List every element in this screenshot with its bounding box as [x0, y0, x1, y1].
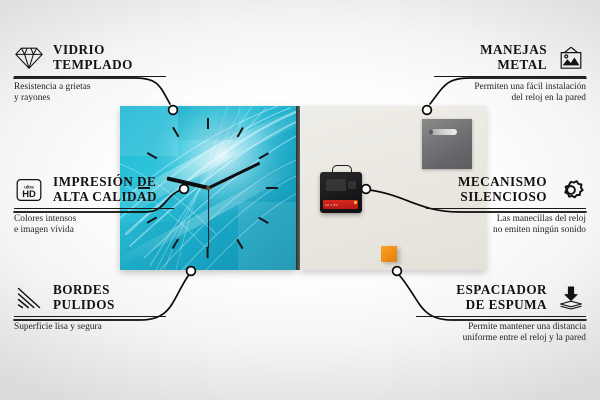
wire-endpoint-ring	[187, 267, 196, 276]
feature-divider	[14, 316, 166, 317]
feature-title-line2: PULIDOS	[53, 298, 115, 313]
feature-desc-line2: no emiten ningún sonido	[426, 225, 586, 236]
feature-description: Resistencia a grietas y rayones	[14, 82, 166, 105]
feature-vidrio-templado: VIDRIO TEMPLADO Resistencia a grietas y …	[14, 43, 166, 104]
feature-bordes-pulidos: BORDES PULIDOS Superficie lisa y segura	[14, 283, 166, 333]
feature-manejas-metal: MANEJAS METAL Permiten una fácil instala…	[434, 43, 586, 104]
feature-description: Colores intensos e imagen vívida	[14, 214, 174, 237]
feature-desc-line2: e imagen vívida	[14, 225, 174, 236]
feature-espaciador-de-espuma: ESPACIADOR DE ESPUMA Permite mantener un…	[416, 283, 586, 344]
feature-header: ESPACIADOR DE ESPUMA	[416, 283, 586, 312]
diamond-icon	[14, 45, 44, 71]
feature-title: MECANISMO SILENCIOSO	[458, 175, 547, 204]
feature-title-line1: MANEJAS	[480, 43, 547, 58]
feature-desc-line1: Las manecillas del reloj	[426, 214, 586, 225]
feature-desc-line1: Colores intensos	[14, 214, 174, 225]
feature-title-line2: SILENCIOSO	[458, 190, 547, 205]
feature-divider	[14, 76, 166, 77]
svg-text:HD: HD	[22, 188, 36, 199]
arrow-down-onto-layers-icon	[556, 285, 586, 311]
feature-title: IMPRESIÓN DE ALTA CALIDAD	[53, 175, 157, 204]
feature-header: VIDRIO TEMPLADO	[14, 43, 166, 72]
feature-title-line1: IMPRESIÓN DE	[53, 175, 157, 190]
diagonal-lines-icon	[14, 285, 44, 311]
feature-desc-line2: y rayones	[14, 93, 166, 104]
feature-desc-line1: Resistencia a grietas	[14, 82, 166, 93]
feature-description: Las manecillas del reloj no emiten ningú…	[426, 214, 586, 237]
wire-endpoint-ring	[180, 185, 189, 194]
feature-divider	[426, 208, 586, 209]
feature-title-line2: TEMPLADO	[53, 58, 133, 73]
feature-title-line1: BORDES	[53, 283, 115, 298]
feature-title: ESPACIADOR DE ESPUMA	[456, 283, 547, 312]
feature-title-line1: VIDRIO	[53, 43, 133, 58]
feature-divider	[434, 76, 586, 77]
feature-desc-line2: del reloj en la pared	[434, 93, 586, 104]
feature-title-line2: ALTA CALIDAD	[53, 190, 157, 205]
feature-description: Superficie lisa y segura	[14, 322, 166, 333]
feature-title-line2: DE ESPUMA	[456, 298, 547, 313]
feature-title-line2: METAL	[480, 58, 547, 73]
feature-header: MECANISMO SILENCIOSO	[426, 175, 586, 204]
feature-title: MANEJAS METAL	[480, 43, 547, 72]
feature-title: BORDES PULIDOS	[53, 283, 115, 312]
ultra-hd-badge-icon: ultra HD	[14, 177, 44, 203]
feature-title-line1: MECANISMO	[458, 175, 547, 190]
feature-divider	[14, 208, 174, 209]
feature-header: ultra HD IMPRESIÓN DE ALTA CALIDAD	[14, 175, 174, 204]
feature-desc-line1: Superficie lisa y segura	[14, 322, 166, 333]
gear-icon	[556, 177, 586, 203]
feature-desc-line2: uniforme entre el reloj y la pared	[416, 333, 586, 344]
feature-mecanismo-silencioso: MECANISMO SILENCIOSO Las manecillas del …	[426, 175, 586, 236]
feature-desc-line1: Permite mantener una distancia	[416, 322, 586, 333]
feature-divider	[416, 316, 586, 317]
wire-endpoint-ring	[169, 106, 178, 115]
feature-impresion-alta-calidad: ultra HD IMPRESIÓN DE ALTA CALIDAD Color…	[14, 175, 174, 236]
feature-desc-line1: Permiten una fácil instalación	[434, 82, 586, 93]
feature-header: BORDES PULIDOS	[14, 283, 166, 312]
wire-endpoint-ring	[423, 106, 432, 115]
picture-frame-hanger-icon	[556, 45, 586, 71]
feature-title-line1: ESPACIADOR	[456, 283, 547, 298]
feature-header: MANEJAS METAL	[434, 43, 586, 72]
product-infographic: AA 1.5V	[0, 0, 600, 400]
feature-description: Permite mantener una distancia uniforme …	[416, 322, 586, 345]
wire-endpoint-ring	[362, 185, 371, 194]
feature-title: VIDRIO TEMPLADO	[53, 43, 133, 72]
feature-description: Permiten una fácil instalación del reloj…	[434, 82, 586, 105]
wire-endpoint-ring	[393, 267, 402, 276]
